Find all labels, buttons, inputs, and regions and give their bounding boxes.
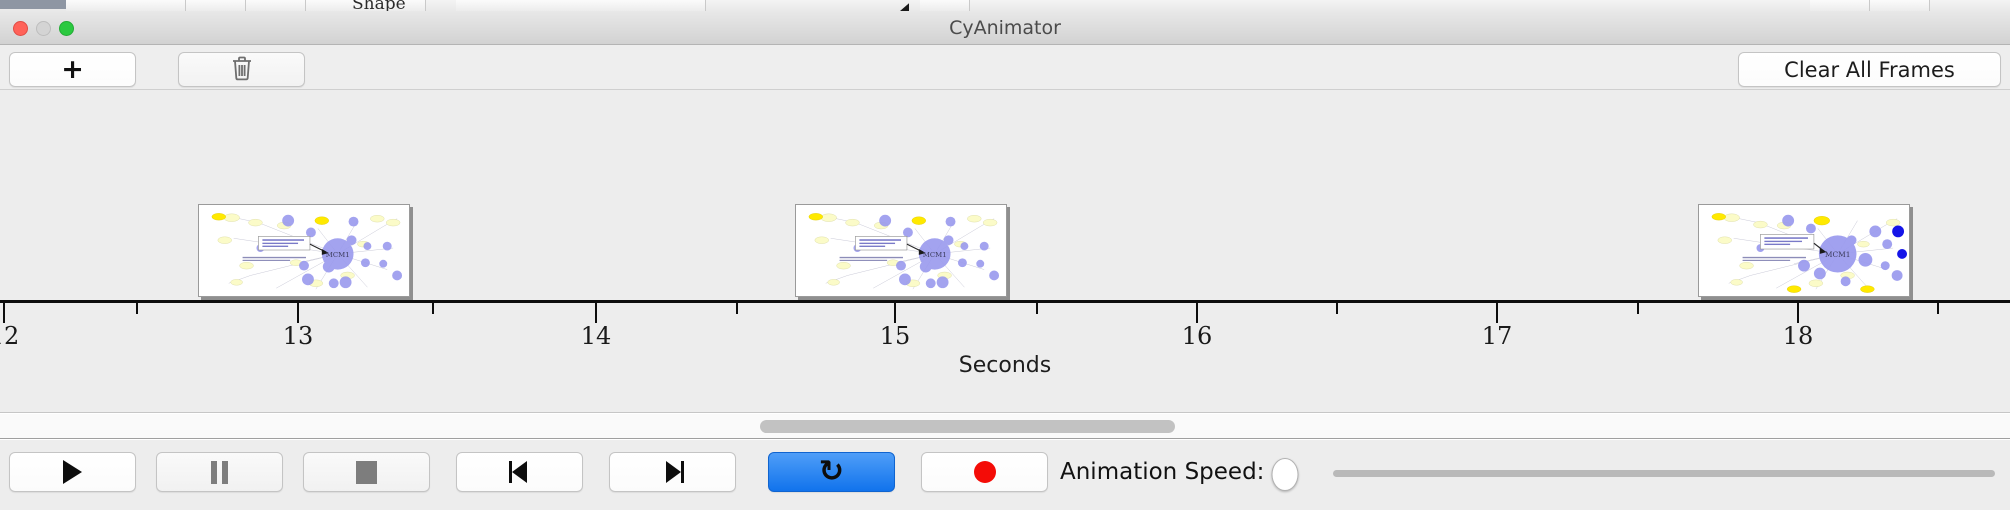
title-bar[interactable]: CyAnimator bbox=[0, 11, 2010, 45]
timeline-axis bbox=[0, 300, 2010, 303]
play-button[interactable] bbox=[9, 452, 136, 492]
pause-button[interactable] bbox=[156, 452, 283, 492]
frame-track[interactable]: MCM1 bbox=[0, 90, 2010, 310]
timeline-tick bbox=[297, 303, 299, 323]
timeline-tick bbox=[1496, 303, 1498, 323]
background-cursor-mark bbox=[900, 0, 909, 11]
timeline-scrollbar-thumb[interactable] bbox=[760, 420, 1175, 433]
timeline-tick-label: 12 bbox=[0, 322, 19, 350]
timeline-tick-label: 15 bbox=[880, 322, 911, 350]
frame-thumbnail-1[interactable]: MCM1 bbox=[198, 204, 410, 297]
timeline-tick bbox=[1937, 303, 1939, 314]
loop-button[interactable]: ↻ bbox=[768, 452, 895, 492]
frame-thumbnail-2[interactable]: MCM1 bbox=[795, 204, 1007, 297]
record-icon bbox=[974, 461, 996, 483]
timeline-tick bbox=[3, 303, 5, 323]
slider-thumb[interactable] bbox=[1272, 458, 1299, 491]
timeline-panel[interactable]: MCM1 bbox=[0, 90, 2010, 413]
svg-text:MCM1: MCM1 bbox=[326, 251, 350, 259]
next-frame-button[interactable] bbox=[609, 452, 736, 492]
stop-icon bbox=[356, 461, 377, 484]
frame-thumbnail-3[interactable]: MCM1 bbox=[1698, 204, 1910, 297]
slider-rail[interactable] bbox=[1333, 470, 1995, 477]
background-segment bbox=[456, 0, 706, 11]
timeline-tick-label: 18 bbox=[1783, 322, 1814, 350]
timeline-tick bbox=[736, 303, 738, 314]
pause-icon bbox=[211, 461, 228, 484]
background-segment bbox=[66, 0, 186, 11]
timeline-tick bbox=[1196, 303, 1198, 323]
background-window-label: Shape bbox=[352, 0, 406, 11]
timeline-tick bbox=[1637, 303, 1639, 314]
plus-icon: + bbox=[61, 56, 84, 83]
timeline-tick bbox=[1036, 303, 1038, 314]
timeline-scrollbar-track[interactable] bbox=[0, 414, 2010, 439]
loop-icon: ↻ bbox=[819, 457, 844, 487]
background-window-strip: Shape bbox=[0, 0, 2010, 11]
trash-icon bbox=[229, 54, 255, 86]
timeline-tick bbox=[432, 303, 434, 314]
previous-frame-button[interactable] bbox=[456, 452, 583, 492]
timeline-tick-label: 17 bbox=[1482, 322, 1513, 350]
playback-control-bar: ↻ Animation Speed: bbox=[0, 440, 2010, 510]
background-segment bbox=[1810, 0, 1870, 11]
add-frame-button[interactable]: + bbox=[9, 52, 136, 87]
timeline-tick-label: 13 bbox=[283, 322, 314, 350]
svg-text:MCM1: MCM1 bbox=[923, 251, 947, 259]
animation-speed-label: Animation Speed: bbox=[1060, 452, 1264, 492]
clear-all-frames-button[interactable]: Clear All Frames bbox=[1738, 52, 2001, 87]
stop-button[interactable] bbox=[303, 452, 430, 492]
timeline-tick bbox=[1336, 303, 1338, 314]
delete-frame-button[interactable] bbox=[178, 52, 305, 87]
skip-forward-icon bbox=[662, 461, 684, 483]
background-segment bbox=[1870, 0, 1930, 11]
svg-text:MCM1: MCM1 bbox=[1825, 250, 1851, 259]
axis-title: Seconds bbox=[0, 353, 2010, 378]
cyanimator-window: Shape CyAnimator + bbox=[0, 0, 2010, 510]
play-icon bbox=[63, 460, 82, 484]
animation-speed-slider[interactable] bbox=[1333, 470, 1995, 478]
timeline-tick bbox=[595, 303, 597, 323]
background-segment bbox=[186, 0, 246, 11]
background-segment bbox=[246, 0, 306, 11]
timeline-tick-label: 16 bbox=[1182, 322, 1213, 350]
skip-back-icon bbox=[509, 461, 531, 483]
timeline-tick-label: 14 bbox=[581, 322, 612, 350]
timeline-tick bbox=[894, 303, 896, 323]
background-tab-selected bbox=[0, 0, 66, 9]
frame-toolbar: + Clear All Frames bbox=[0, 45, 2010, 90]
background-segment bbox=[920, 0, 970, 11]
window-title: CyAnimator bbox=[0, 11, 2010, 45]
timeline-tick bbox=[1797, 303, 1799, 323]
record-button[interactable] bbox=[921, 452, 1048, 492]
timeline-tick bbox=[136, 303, 138, 314]
